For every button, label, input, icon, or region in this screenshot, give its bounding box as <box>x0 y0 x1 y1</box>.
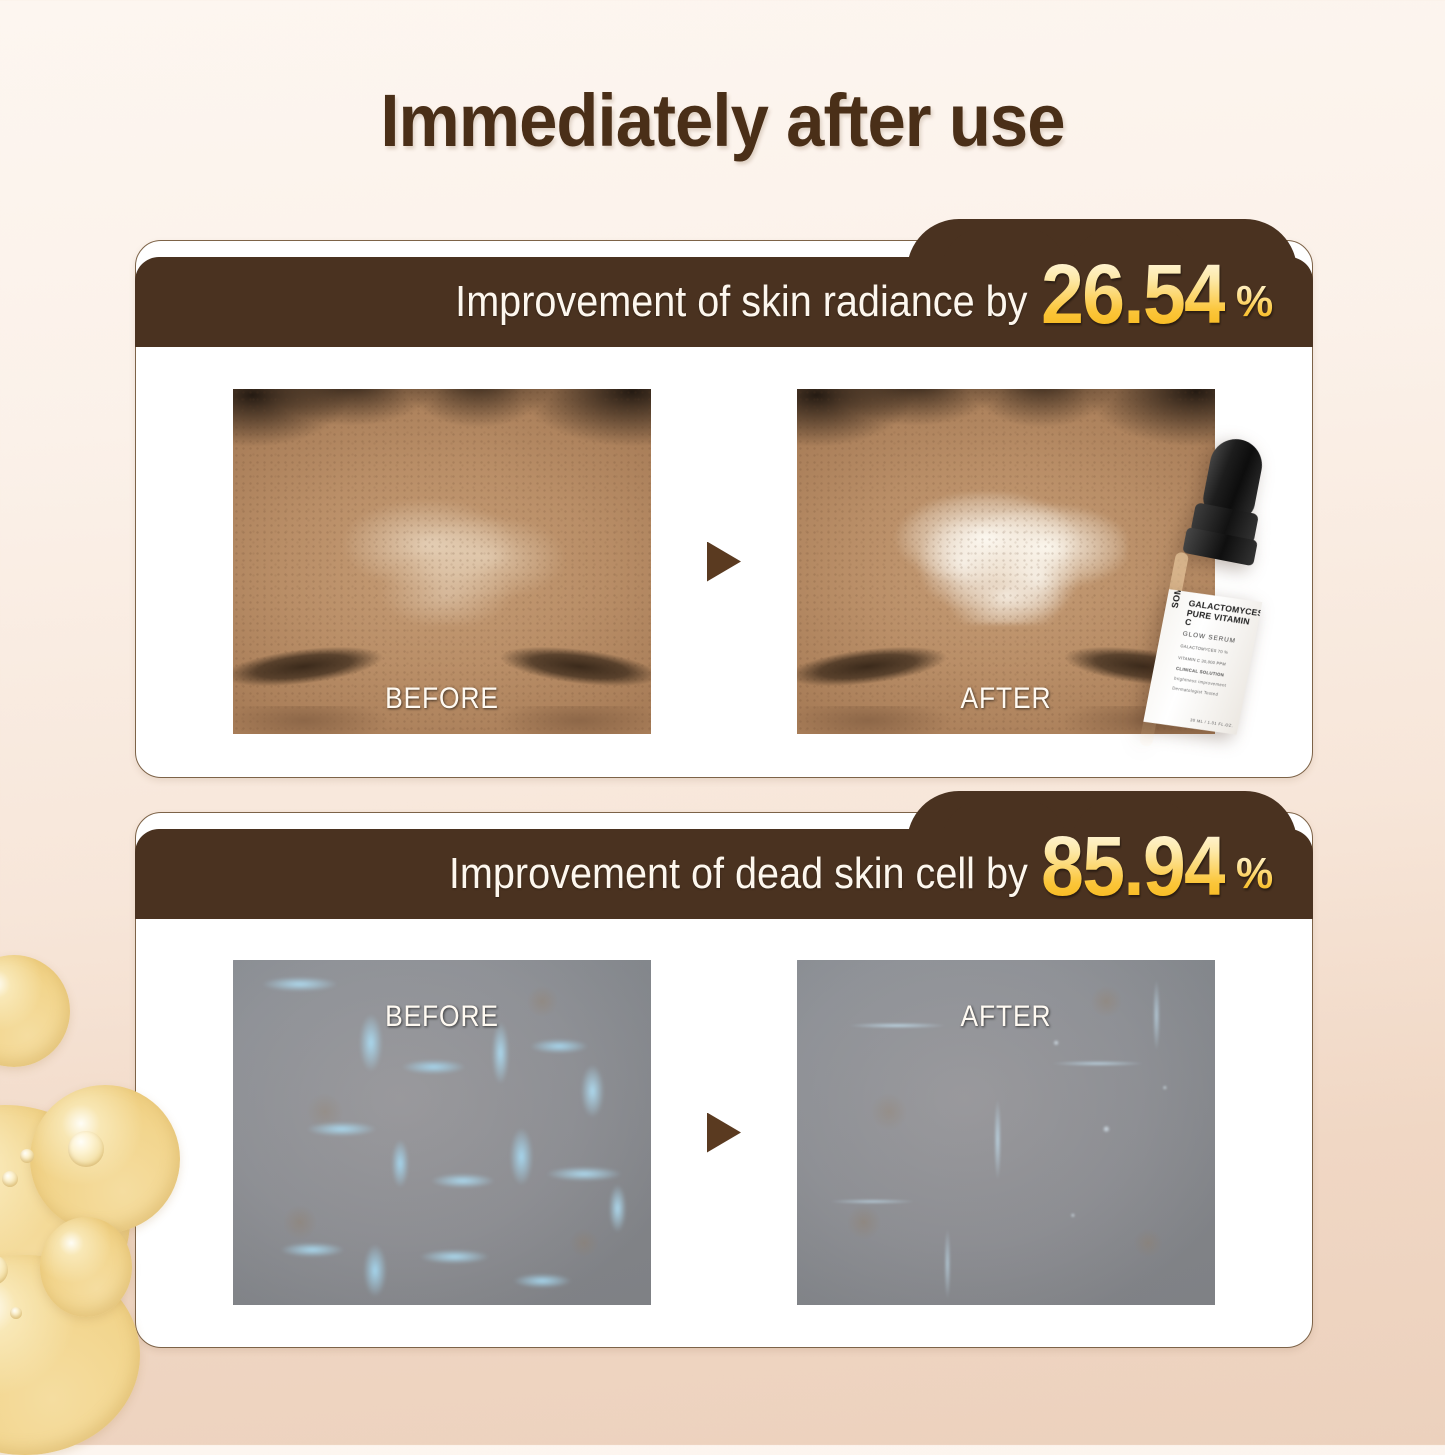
header-label: Improvement of dead skin cell by <box>449 849 1033 899</box>
page-title: Immediately after use <box>51 78 1395 163</box>
header-value: 26.54 <box>1041 252 1225 336</box>
section-header-skin-radiance: Improvement of skin radiance by 26.54 % <box>135 240 1313 347</box>
before-image-skin-radiance: BEFORE <box>233 389 651 734</box>
comparison-row-dead-skin-cell: BEFORE AFTER <box>136 918 1312 1347</box>
serum-drop-bottom <box>0 1255 140 1455</box>
serum-pearl-bubble <box>10 1307 22 1319</box>
before-image-dead-skin-cell: BEFORE <box>233 960 651 1305</box>
serum-pearl-bubble <box>68 1131 104 1167</box>
triangle-right-icon <box>707 1113 741 1153</box>
serum-drop-tail <box>40 1217 132 1317</box>
result-card-dead-skin-cell: Improvement of dead skin cell by 85.94 %… <box>135 812 1313 1348</box>
header-unit: % <box>1236 280 1273 324</box>
serum-drop-large <box>0 1105 130 1335</box>
after-image-dead-skin-cell: AFTER <box>797 960 1215 1305</box>
before-caption: BEFORE <box>258 1000 626 1034</box>
after-caption: AFTER <box>822 1000 1190 1034</box>
section-header-dead-skin-cell: Improvement of dead skin cell by 85.94 % <box>135 812 1313 919</box>
header-unit: % <box>1236 852 1273 896</box>
serum-drop-small <box>0 955 70 1067</box>
serum-pearl-bubble <box>0 1255 8 1285</box>
serum-pearl-bubble <box>20 1149 34 1163</box>
header-value: 85.94 <box>1041 824 1225 908</box>
before-caption: BEFORE <box>258 682 626 716</box>
header-label: Improvement of skin radiance by <box>456 277 1034 327</box>
serum-pearl-bubble <box>2 1171 18 1187</box>
triangle-right-icon <box>707 542 741 582</box>
product-volume: 30 ML / 1.01 FL.OZ. <box>1190 717 1234 728</box>
